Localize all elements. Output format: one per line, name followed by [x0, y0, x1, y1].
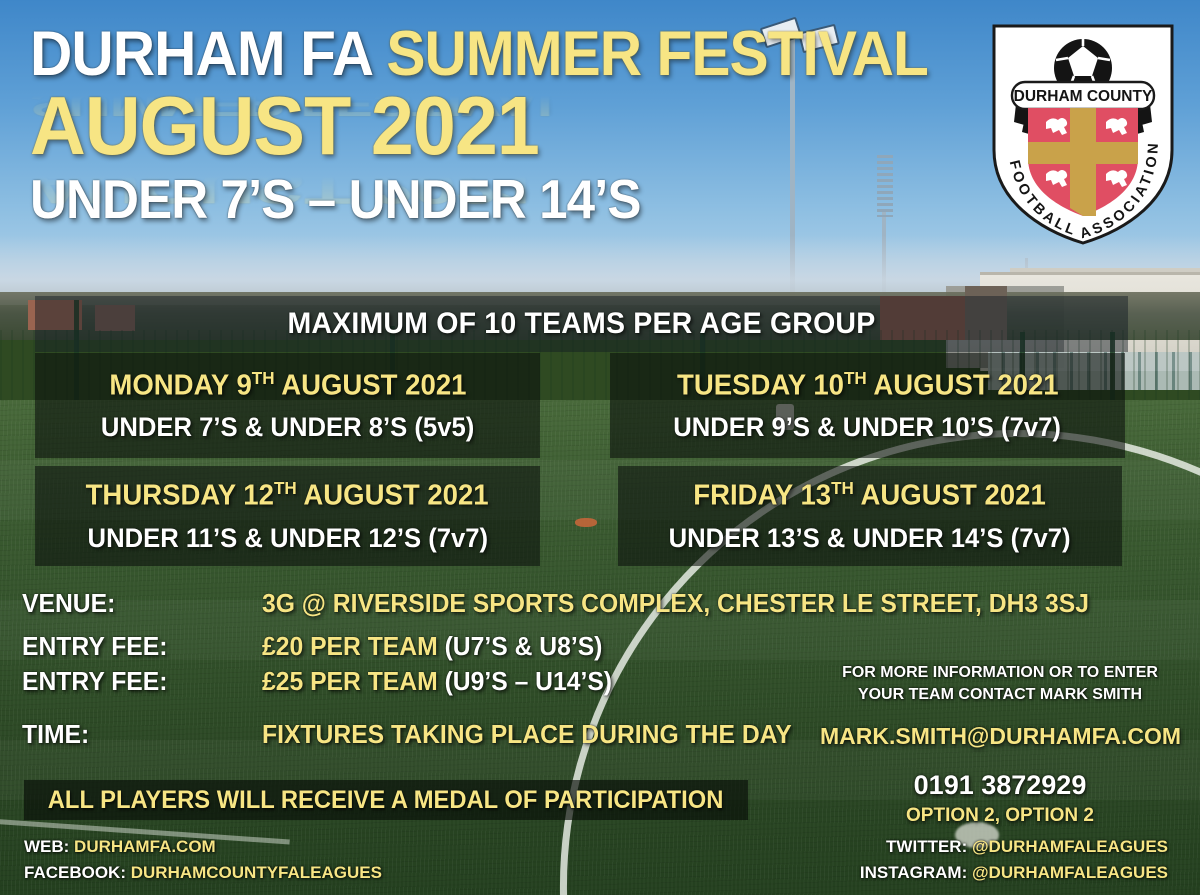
max-teams-banner: MAXIMUM OF 10 TEAMS PER AGE GROUP: [35, 296, 1128, 352]
poster: DURHAM FA SUMMER FESTIVAL SUMMER FESTIVA…: [0, 0, 1200, 895]
poster-headline: DURHAM FA SUMMER FESTIVAL SUMMER FESTIVA…: [30, 26, 990, 225]
entry-fee-1-label: ENTRY FEE:: [22, 631, 250, 662]
headline-line-1: DURHAM FA SUMMER FESTIVAL: [30, 26, 923, 84]
entry-fee-2-label: ENTRY FEE:: [22, 666, 250, 697]
medal-banner-text: ALL PLAYERS WILL RECEIVE A MEDAL OF PART…: [48, 786, 724, 815]
venue-value: 3G @ RIVERSIDE SPORTS COMPLEX, CHESTER L…: [262, 588, 1089, 619]
headline-line-2: AUGUST 2021: [30, 88, 923, 164]
contact-phone-options: OPTION 2, OPTION 2: [820, 805, 1180, 827]
footer-right: TWITTER: @DURHAMFALEAGUES INSTAGRAM: @DU…: [860, 834, 1168, 887]
entry-fee-2-value: £25 PER TEAM (U9’S – U14’S): [262, 666, 612, 697]
contact-phone[interactable]: 0191 3872929: [820, 770, 1180, 801]
schedule-box-tuesday: TUESDAY 10TH AUGUST 2021 UNDER 9’S & UND…: [610, 353, 1125, 458]
schedule-categories-tuesday: UNDER 9’S & UNDER 10’S (7v7): [674, 412, 1062, 443]
detail-row-entry-fee-1: ENTRY FEE: £20 PER TEAM (U7’S & U8’S): [22, 631, 1182, 662]
crest-svg: DURHAM COUNTY FOOTBALL ASSOCIATION: [988, 22, 1178, 247]
training-cone: [575, 518, 597, 527]
schedule-date-monday: MONDAY 9TH AUGUST 2021: [109, 368, 466, 403]
schedule-box-thursday: THURSDAY 12TH AUGUST 2021 UNDER 11’S & U…: [35, 466, 540, 566]
footer-web[interactable]: WEB: DURHAMFA.COM: [24, 834, 382, 860]
durham-county-fa-crest: DURHAM COUNTY FOOTBALL ASSOCIATION: [988, 22, 1178, 247]
schedule-categories-thursday: UNDER 11’S & UNDER 12’S (7v7): [87, 523, 488, 554]
schedule-box-friday: FRIDAY 13TH AUGUST 2021 UNDER 13’S & UND…: [618, 466, 1122, 566]
footer-left: WEB: DURHAMFA.COM FACEBOOK: DURHAMCOUNTY…: [24, 834, 382, 887]
time-label: TIME:: [22, 719, 250, 750]
contact-block: FOR MORE INFORMATION OR TO ENTER YOUR TE…: [820, 662, 1180, 827]
crest-banner-text: DURHAM COUNTY: [1014, 88, 1153, 105]
venue-label: VENUE:: [22, 588, 250, 619]
footer-twitter[interactable]: TWITTER: @DURHAMFALEAGUES: [860, 834, 1168, 860]
max-teams-text: MAXIMUM OF 10 TEAMS PER AGE GROUP: [288, 307, 876, 341]
schedule-date-friday: FRIDAY 13TH AUGUST 2021: [694, 478, 1046, 513]
entry-fee-1-value: £20 PER TEAM (U7’S & U8’S): [262, 631, 602, 662]
footer-facebook[interactable]: FACEBOOK: DURHAMCOUNTYFALEAGUES: [24, 860, 382, 886]
contact-intro-line-1: FOR MORE INFORMATION OR TO ENTER: [820, 662, 1180, 684]
schedule-box-monday: MONDAY 9TH AUGUST 2021 UNDER 7’S & UNDER…: [35, 353, 540, 458]
medal-banner: ALL PLAYERS WILL RECEIVE A MEDAL OF PART…: [24, 780, 748, 820]
time-value: FIXTURES TAKING PLACE DURING THE DAY: [262, 719, 792, 750]
contact-intro-line-2: YOUR TEAM CONTACT MARK SMITH: [820, 684, 1180, 706]
schedule-categories-friday: UNDER 13’S & UNDER 14’S (7v7): [669, 523, 1071, 554]
schedule-date-thursday: THURSDAY 12TH AUGUST 2021: [86, 478, 489, 513]
footer-instagram[interactable]: INSTAGRAM: @DURHAMFALEAGUES: [860, 860, 1168, 886]
detail-row-venue: VENUE: 3G @ RIVERSIDE SPORTS COMPLEX, CH…: [22, 588, 1182, 619]
schedule-date-tuesday: TUESDAY 10TH AUGUST 2021: [677, 368, 1059, 403]
headline-line-3: UNDER 7’S – UNDER 14’S: [30, 174, 923, 225]
schedule-categories-monday: UNDER 7’S & UNDER 8’S (5v5): [101, 412, 474, 443]
contact-email[interactable]: MARK.SMITH@DURHAMFA.COM: [820, 723, 1180, 750]
